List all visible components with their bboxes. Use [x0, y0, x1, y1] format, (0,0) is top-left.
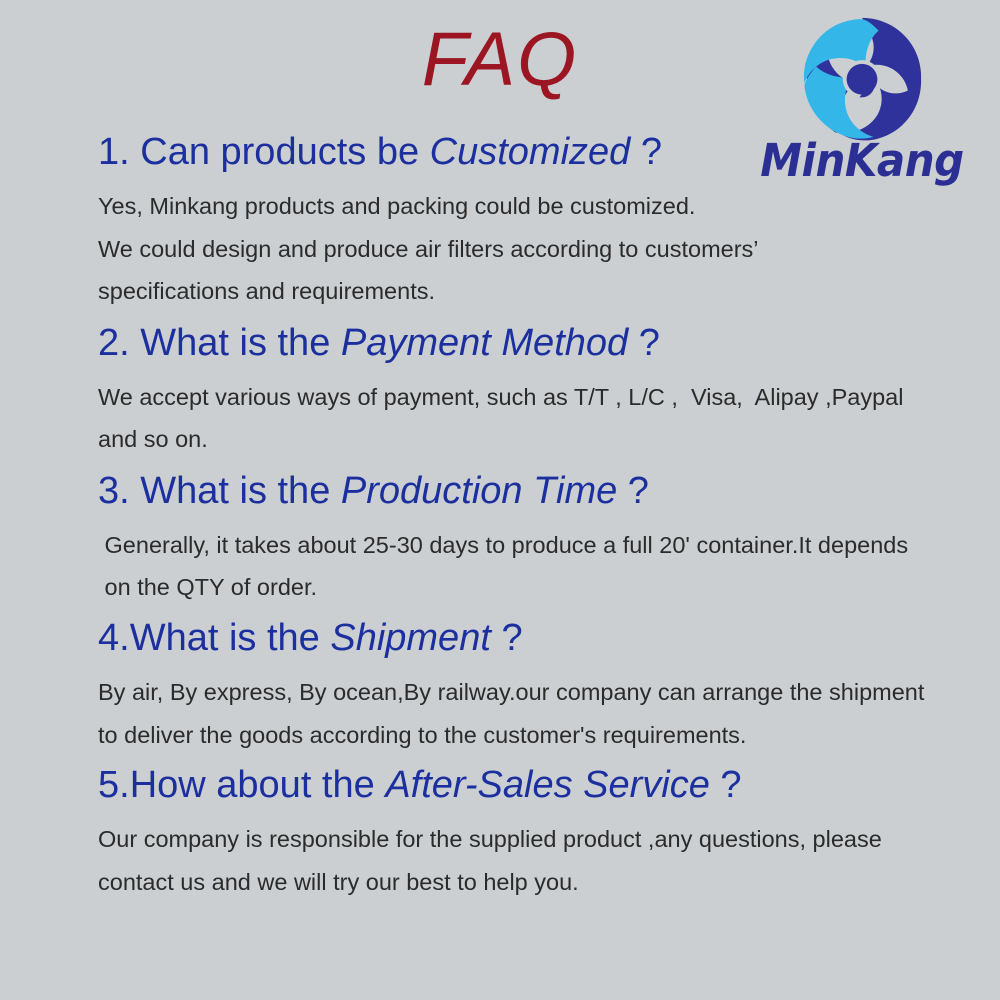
faq-question-3: 3. What is the Production Time ?	[98, 469, 978, 513]
faq-question-lead-1: Can products be	[140, 131, 429, 173]
faq-question-tail-5: ?	[710, 764, 742, 806]
faq-question-2: 2. What is the Payment Method ?	[98, 321, 978, 365]
faq-number-2: 2.	[98, 322, 140, 364]
faq-question-tail-1: ?	[630, 131, 662, 173]
faq-question-emphasis-3: Production Time	[341, 470, 617, 512]
faq-answer-4: By air, By express, By ocean,By railway.…	[98, 671, 978, 756]
faq-question-tail-4: ?	[491, 617, 523, 659]
faq-question-emphasis-4: Shipment	[330, 617, 491, 659]
pinwheel-logo-icon	[798, 14, 926, 142]
faq-item-3: 3. What is the Production Time ? General…	[98, 469, 978, 609]
faq-answer-1: Yes, Minkang products and packing could …	[98, 185, 978, 313]
faq-answer-3: Generally, it takes about 25-30 days to …	[98, 524, 978, 609]
faq-number-5: 5.	[98, 764, 130, 806]
faq-list: 1. Can products be Customized ? Yes, Min…	[98, 130, 978, 903]
faq-question-tail-3: ?	[617, 470, 649, 512]
faq-answer-5: Our company is responsible for the suppl…	[98, 818, 978, 903]
faq-answer-2: We accept various ways of payment, such …	[98, 376, 978, 461]
faq-number-3: 3.	[98, 470, 140, 512]
faq-question-emphasis-5: After-Sales Service	[385, 764, 710, 806]
faq-question-lead-4: What is the	[130, 617, 331, 659]
faq-question-lead-2: What is the	[140, 322, 341, 364]
faq-question-lead-3: What is the	[140, 470, 341, 512]
faq-page: FAQ MinKang 1. Can products be Customize…	[0, 0, 1000, 1000]
faq-number-4: 4.	[98, 617, 130, 659]
faq-question-4: 4.What is the Shipment ?	[98, 616, 978, 660]
faq-item-4: 4.What is the Shipment ? By air, By expr…	[98, 616, 978, 756]
faq-question-emphasis-2: Payment Method	[341, 322, 628, 364]
faq-question-1: 1. Can products be Customized ?	[98, 130, 978, 174]
faq-question-tail-2: ?	[628, 322, 660, 364]
faq-question-emphasis-1: Customized	[430, 131, 631, 173]
faq-item-2: 2. What is the Payment Method ? We accep…	[98, 321, 978, 461]
faq-item-1: 1. Can products be Customized ? Yes, Min…	[98, 130, 978, 313]
faq-question-lead-5: How about the	[130, 764, 386, 806]
faq-question-5: 5.How about the After-Sales Service ?	[98, 763, 978, 807]
faq-number-1: 1.	[98, 131, 140, 173]
faq-item-5: 5.How about the After-Sales Service ? Ou…	[98, 763, 978, 903]
